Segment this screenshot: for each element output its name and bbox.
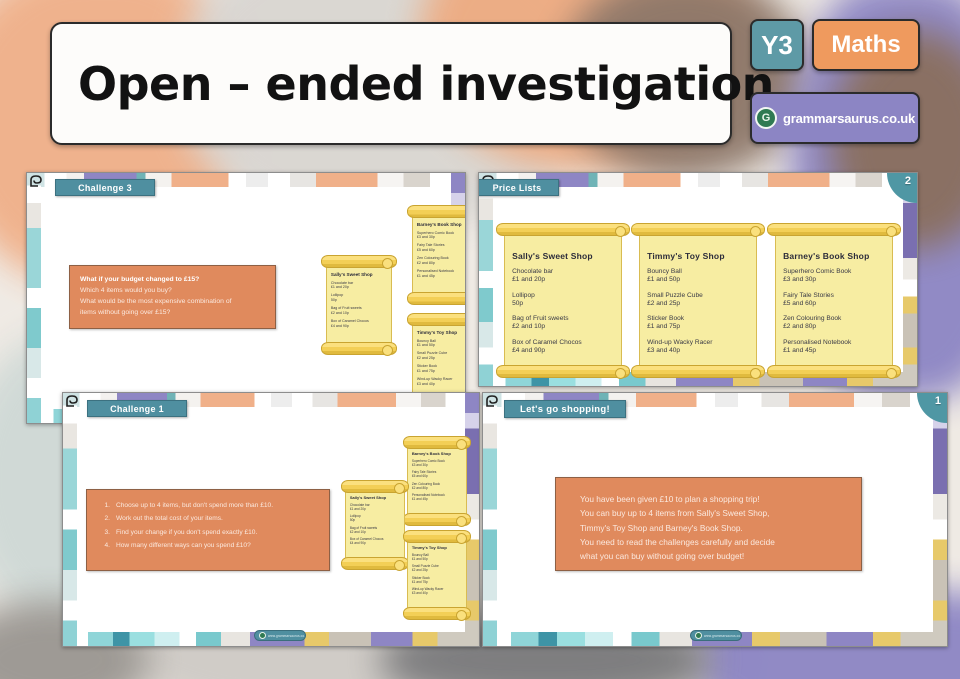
scroll-item: Chocolate bar £1 and 20p: [331, 281, 390, 290]
shopping-instructions-box: You have been given £10 to plan a shoppi…: [555, 477, 862, 571]
scroll-shop-name: Barney's Book Shop: [417, 222, 466, 227]
scroll-timmys-toy-shop: Timmy's Toy Shop Bouncy Ball £1 and 50p …: [403, 530, 471, 620]
frame-strip-left: [63, 393, 77, 646]
scroll-item: Sticker Book £1 and 75p: [417, 364, 466, 373]
shopping-line-2: You can buy up to 4 items from Sally's S…: [580, 506, 837, 520]
challenge-1-step: 4. How many different ways can you spend…: [98, 539, 318, 552]
scroll-item: Personalised Notebook £1 and 45p: [417, 269, 466, 278]
scroll-item: Small Puzzle Cube £2 and 25p: [647, 292, 752, 309]
scroll-barneys-book-shop: Barney's Book Shop Superhero Comic Book …: [407, 205, 466, 305]
subject-badge: Maths: [812, 19, 920, 71]
challenge-1-step: 1. Choose up to 4 items, but don't spend…: [98, 499, 318, 512]
scroll-shop-name: Timmy's Toy Shop: [412, 545, 465, 550]
subject-badge-label: Maths: [831, 31, 900, 59]
tab-challenge-3-label: Challenge 3: [78, 183, 132, 193]
scroll-item: Chocolate bar £1 and 20p: [512, 268, 617, 285]
scroll-barneys-book-shop: Barney's Book Shop Superhero Comic Book …: [403, 436, 471, 526]
scroll-item: Wind-up Wacky Racer £3 and 40p: [412, 587, 465, 595]
grammarsaurus-logo-icon: [259, 632, 266, 639]
tab-lets-go-shopping-label: Let's go shopping!: [520, 404, 610, 415]
shopping-line-1: You have been given £10 to plan a shoppi…: [580, 492, 837, 506]
tab-price-lists[interactable]: Price Lists: [478, 179, 559, 196]
scroll-item: Box of Caramel Chocos £4 and 90p: [512, 339, 617, 356]
scroll-item: Lollipop 50p: [512, 292, 617, 309]
slide-lets-go-shopping[interactable]: 1 Let's go shopping! You have been given…: [482, 392, 948, 647]
scroll-item: Bag of Fruit sweets £2 and 10p: [350, 526, 403, 534]
footer-url-label: www.grammarsaurus.co.uk: [704, 634, 742, 638]
scroll-item: Sticker Book £1 and 75p: [412, 576, 465, 584]
tab-price-lists-label: Price Lists: [493, 183, 542, 193]
scroll-item: Wind-up Wacky Racer £3 and 40p: [647, 339, 752, 356]
scroll-item: Box of Caramel Chocos £4 and 90p: [331, 319, 390, 328]
challenge-3-task-box: What if your budget changed to £15? Whic…: [69, 265, 276, 329]
frame-strip-left: [479, 173, 493, 386]
challenge-1-steps-box: 1. Choose up to 4 items, but don't spend…: [86, 489, 330, 571]
scroll-item: Wind-up Wacky Racer £3 and 40p: [417, 377, 466, 386]
scroll-item: Bag of Fruit sweets £2 and 10p: [512, 315, 617, 332]
scroll-item: Lollipop 50p: [350, 514, 403, 522]
brand-logo-label: grammarsaurus.co.uk: [783, 111, 915, 126]
scroll-shop-name: Timmy's Toy Shop: [647, 251, 752, 261]
challenge-3-line-3: What would be the most expensive combina…: [80, 296, 265, 307]
scroll-item: Bouncy Ball £1 and 50p: [412, 553, 465, 561]
slide-number-badge: 1: [917, 393, 947, 423]
grammarsaurus-logo-icon: G: [755, 107, 777, 129]
shopping-line-5: what you can buy without going over budg…: [580, 549, 837, 563]
slide-number-badge: 2: [887, 173, 917, 203]
scroll-sallys-sweet-shop: Sally's Sweet Shop Chocolate bar £1 and …: [321, 255, 397, 355]
scroll-shop-name: Sally's Sweet Shop: [512, 251, 617, 261]
page-curl-icon: [29, 174, 49, 190]
slide-challenge-1[interactable]: Challenge 1 1. Choose up to 4 items, but…: [62, 392, 480, 647]
scroll-item: Bouncy Ball £1 and 50p: [647, 268, 752, 285]
page-title: Open – ended investigation: [78, 57, 774, 111]
scroll-shop-name: Sally's Sweet Shop: [350, 495, 403, 500]
challenge-1-step: 3. Find your change if you don't spend e…: [98, 526, 318, 539]
scroll-item: Fairy Tale Stories £5 and 60p: [417, 243, 466, 252]
year-badge-label: Y3: [761, 30, 793, 61]
scroll-item: Bag of Fruit sweets £2 and 10p: [331, 306, 390, 315]
page-curl-icon: [485, 394, 505, 410]
scroll-item: Small Puzzle Cube £2 and 25p: [417, 351, 466, 360]
footer-url-label: www.grammarsaurus.co.uk: [268, 634, 306, 638]
scroll-item: Box of Caramel Chocos £4 and 90p: [350, 537, 403, 545]
scroll-item: Lollipop 50p: [331, 293, 390, 302]
tab-challenge-3[interactable]: Challenge 3: [55, 179, 155, 196]
scroll-item: Superhero Comic Book £3 and 30p: [412, 459, 465, 467]
scroll-item: Zen Colouring Book £2 and 80p: [783, 315, 888, 332]
challenge-1-step: 2. Work out the total cost of your items…: [98, 512, 318, 525]
frame-strip-left: [27, 173, 41, 423]
scroll-item: Personalised Notebook £1 and 45p: [783, 339, 888, 356]
pricelist-scroll-timmys-toy-shop: Timmy's Toy Shop Bouncy Ball £1 and 50p …: [631, 223, 765, 378]
scroll-item: Sticker Book £1 and 75p: [647, 315, 752, 332]
brand-logo-badge[interactable]: G grammarsaurus.co.uk: [750, 92, 920, 144]
footer-brand-pill[interactable]: www.grammarsaurus.co.uk: [254, 630, 306, 641]
title-card: Open – ended investigation: [50, 22, 732, 145]
year-badge: Y3: [750, 19, 804, 71]
slide-number-label: 2: [905, 175, 911, 187]
challenge-3-line-1: What if your budget changed to £15?: [80, 274, 265, 285]
scroll-shop-name: Timmy's Toy Shop: [417, 330, 466, 335]
scroll-item: Fairy Tale Stories £5 and 60p: [783, 292, 888, 309]
scroll-item: Chocolate bar £1 and 20p: [350, 503, 403, 511]
frame-strip-right: [933, 393, 947, 646]
grammarsaurus-logo-icon: [695, 632, 702, 639]
scroll-item: Bouncy Ball £1 and 50p: [417, 339, 466, 348]
footer-brand-pill[interactable]: www.grammarsaurus.co.uk: [690, 630, 742, 641]
frame-strip-right: [903, 173, 917, 386]
scroll-item: Superhero Comic Book £3 and 30p: [783, 268, 888, 285]
tab-challenge-1-label: Challenge 1: [110, 404, 164, 414]
scroll-item: Personalised Notebook £1 and 45p: [412, 493, 465, 501]
scroll-item: Small Puzzle Cube £2 and 25p: [412, 564, 465, 572]
scroll-shop-name: Barney's Book Shop: [412, 451, 465, 456]
shopping-line-4: You need to read the challenges carefull…: [580, 535, 837, 549]
frame-strip-left: [483, 393, 497, 646]
pricelist-scroll-barneys-book-shop: Barney's Book Shop Superhero Comic Book …: [767, 223, 901, 378]
challenge-3-line-4: items without going over £15?: [80, 307, 265, 318]
tab-lets-go-shopping[interactable]: Let's go shopping!: [504, 400, 626, 418]
scroll-sallys-sweet-shop: Sally's Sweet Shop Chocolate bar £1 and …: [341, 480, 409, 570]
scroll-shop-name: Sally's Sweet Shop: [331, 272, 390, 277]
challenge-3-line-2: Which 4 items would you buy?: [80, 285, 265, 296]
scroll-item: Fairy Tale Stories £5 and 60p: [412, 470, 465, 478]
tab-challenge-1[interactable]: Challenge 1: [87, 400, 187, 417]
slide-price-lists[interactable]: 2 Price Lists Sally's Sweet Shop Chocola…: [478, 172, 918, 387]
scroll-item: Zen Colouring Book £2 and 80p: [412, 482, 465, 490]
slide-number-label: 1: [935, 395, 941, 407]
page-curl-icon: [65, 394, 85, 410]
scroll-item: Superhero Comic Book £3 and 30p: [417, 231, 466, 240]
pricelist-scroll-sallys-sweet-shop: Sally's Sweet Shop Chocolate bar £1 and …: [496, 223, 630, 378]
slide-challenge-3[interactable]: Challenge 3 What if your budget changed …: [26, 172, 466, 424]
scroll-shop-name: Barney's Book Shop: [783, 251, 888, 261]
shopping-line-3: Timmy's Toy Shop and Barney's Book Shop.: [580, 521, 837, 535]
scroll-item: Zen Colouring Book £2 and 80p: [417, 256, 466, 265]
